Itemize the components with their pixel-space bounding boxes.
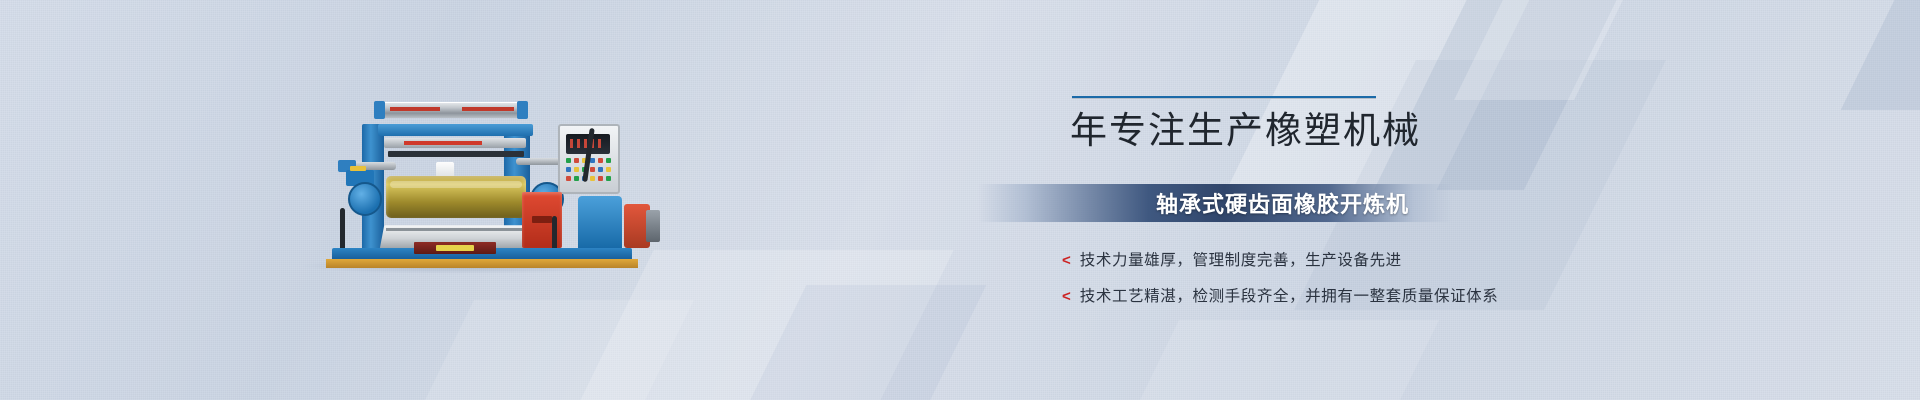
machine-red-rod-a (390, 107, 440, 111)
product-title-ribbon: 轴承式硬齿面橡胶开炼机 (978, 184, 1452, 222)
chevron-left-icon: < (1062, 289, 1071, 304)
feature-list: < 技术力量雄厚，管理制度完善，生产设备先进 < 技术工艺精湛，检测手段齐全，并… (1062, 248, 1622, 320)
background-shape-4 (1454, 0, 1662, 100)
background-shape-8 (386, 300, 694, 400)
feature-item: < 技术力量雄厚，管理制度完善，生产设备先进 (1062, 248, 1622, 270)
machine-roller-hub-left (348, 182, 382, 216)
machine-tray-rail (386, 228, 528, 231)
machine-cabinet-plate (532, 216, 552, 223)
machine-roller-highlight (390, 181, 522, 188)
headline-divider (1072, 96, 1376, 99)
machine-base-foot (326, 259, 638, 268)
promo-banner: 年专注生产橡塑机械 轴承式硬齿面橡胶开炼机 < 技术力量雄厚，管理制度完善，生产… (0, 0, 1920, 400)
machine-cross-bar (378, 124, 533, 136)
background-shape-5 (1841, 0, 1920, 110)
feature-item-text: 技术工艺精湛，检测手段齐全，并拥有一整套质量保证体系 (1080, 284, 1499, 306)
background-shape-7 (714, 285, 987, 400)
machine-motor-cap (646, 210, 660, 242)
machine-black-bar (388, 151, 524, 157)
background-shape-9 (1101, 320, 1439, 400)
chevron-left-icon: < (1062, 253, 1071, 268)
machine-gearbox (578, 196, 622, 250)
machine-red-rod-b (462, 107, 514, 111)
banner-text-block: 年专注生产橡塑机械 轴承式硬齿面橡胶开炼机 < 技术力量雄厚，管理制度完善，生产… (1062, 96, 1622, 152)
feature-item: < 技术工艺精湛，检测手段齐全，并拥有一整套质量保证体系 (1062, 284, 1622, 306)
machine-yellow-nub (350, 166, 366, 171)
machine-panel-button-row-3 (566, 176, 611, 181)
machine-top-roll-cap-left (374, 101, 385, 119)
banner-headline: 年专注生产橡塑机械 (1070, 113, 1622, 152)
machine-base-label (436, 245, 474, 251)
background-shape-6 (546, 250, 953, 400)
background-shape-2 (1374, 0, 1636, 190)
feature-item-text: 技术力量雄厚，管理制度完善，生产设备先进 (1080, 248, 1402, 270)
machine-red-strip (404, 141, 482, 145)
product-title-text: 轴承式硬齿面橡胶开炼机 (1156, 187, 1409, 219)
background-shape-1 (1227, 0, 1564, 190)
machine-top-roll-cap-right (517, 101, 528, 119)
product-image-rubber-mixing-mill (286, 96, 626, 266)
